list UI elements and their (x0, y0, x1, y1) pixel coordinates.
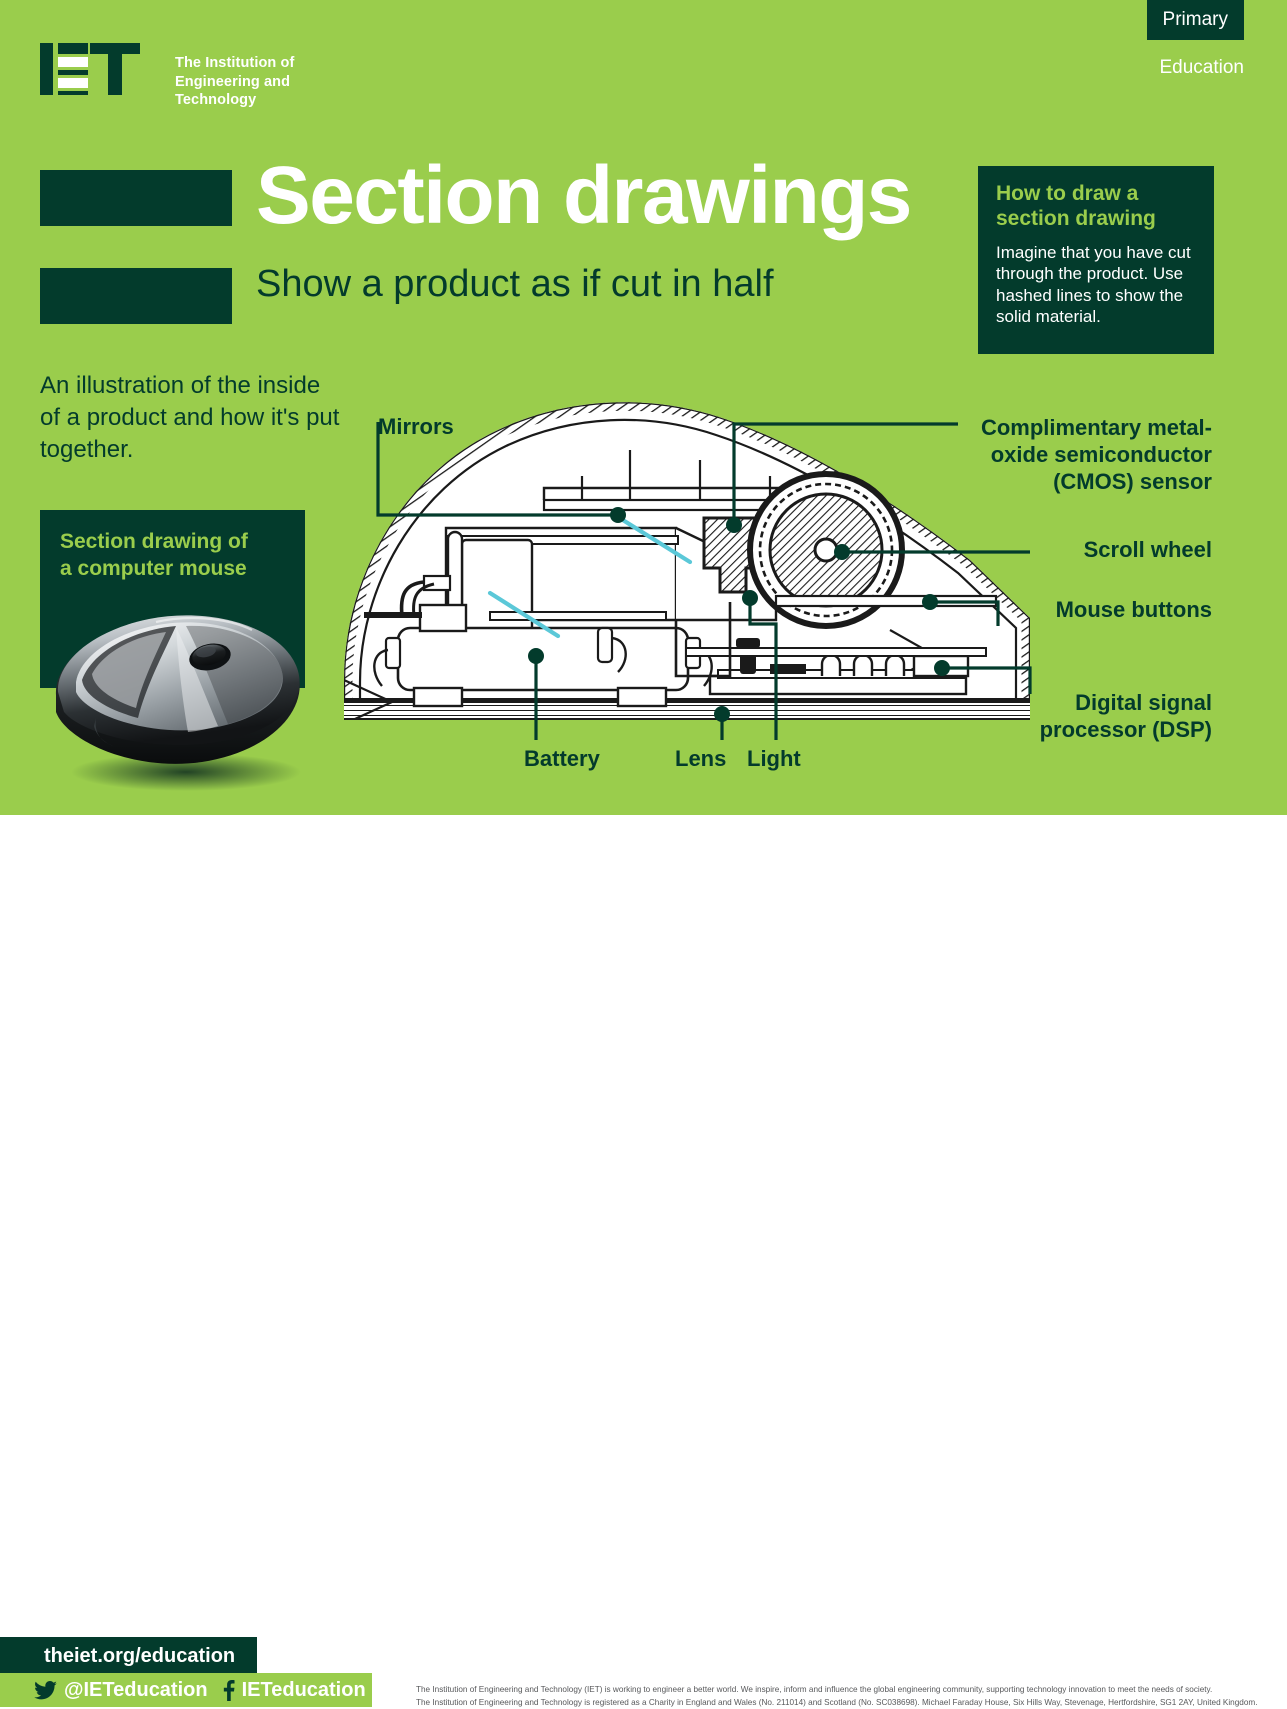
how-to-heading: How to draw a section drawing (996, 182, 1196, 232)
label-dsp: Digital signal processor (DSP) (900, 690, 1212, 744)
infographic-page: The Institution of Engineering and Techn… (0, 0, 1287, 910)
logo-text-line1: The Institution of (175, 54, 360, 73)
label-dsp-line2: processor (DSP) (900, 717, 1212, 744)
label-mirrors: Mirrors (378, 414, 454, 440)
iet-logo-block: The Institution of Engineering and Techn… (40, 40, 360, 100)
primary-badge: Primary (1147, 0, 1244, 40)
facebook-handle[interactable]: IETeducation (242, 1679, 366, 1702)
computer-mouse-photo (36, 600, 326, 795)
label-cmos-line2: oxide semiconductor (900, 442, 1212, 469)
how-to-body: Imagine that you have cut through the pr… (996, 242, 1196, 328)
label-cmos-line3: (CMOS) sensor (900, 469, 1212, 496)
logo-text-line2: Engineering and Technology (175, 73, 360, 110)
page-title: Section drawings (256, 155, 911, 237)
label-lens: Lens (675, 746, 726, 772)
description-text: An illustration of the inside of a produ… (40, 370, 340, 466)
facebook-icon[interactable] (223, 1680, 235, 1701)
website-url[interactable]: theiet.org/education (0, 1637, 257, 1676)
page-subtitle: Show a product as if cut in half (256, 265, 774, 303)
how-to-heading-line1: How to draw a (996, 182, 1196, 207)
twitter-icon[interactable] (34, 1681, 57, 1700)
mouse-card-title-line1: Section drawing of (60, 528, 285, 555)
mouse-card-title: Section drawing of a computer mouse (40, 510, 305, 583)
fineprint-line1: The Institution of Engineering and Techn… (416, 1684, 1266, 1697)
how-to-heading-line2: section drawing (996, 207, 1196, 232)
iet-logo-icon (40, 43, 140, 95)
label-battery: Battery (524, 746, 600, 772)
how-to-draw-callout: How to draw a section drawing Imagine th… (978, 166, 1214, 354)
mouse-card-title-line2: a computer mouse (60, 555, 285, 582)
label-cmos-sensor: Complimentary metal- oxide semiconductor… (900, 415, 1212, 495)
label-scroll-wheel: Scroll wheel (900, 537, 1212, 563)
iet-logo-text: The Institution of Engineering and Techn… (175, 54, 360, 110)
label-light: Light (747, 746, 801, 772)
label-cmos-line1: Complimentary metal- (900, 415, 1212, 442)
title-swatch-bottom (40, 268, 232, 324)
title-swatch-top (40, 170, 232, 226)
label-dsp-line1: Digital signal (900, 690, 1212, 717)
legal-fineprint: The Institution of Engineering and Techn… (416, 1684, 1266, 1709)
education-label: Education (1159, 58, 1244, 77)
social-links-bar: @IETeducation IETeducation (0, 1673, 372, 1707)
label-mouse-buttons: Mouse buttons (900, 597, 1212, 623)
twitter-handle[interactable]: @IETeducation (64, 1679, 208, 1702)
fineprint-line2: The Institution of Engineering and Techn… (416, 1697, 1266, 1709)
footer: theiet.org/education @IETeducation IETed… (0, 815, 1287, 910)
